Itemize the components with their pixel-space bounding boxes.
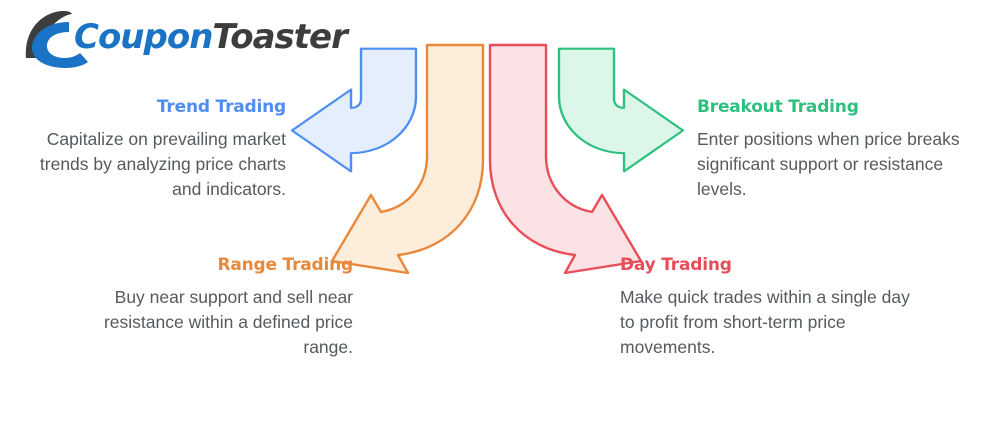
block-trend-title: Trend Trading — [8, 97, 286, 117]
block-range-description: Buy near support and sell near resistanc… — [78, 285, 353, 360]
block-breakout-title: Breakout Trading — [697, 97, 972, 117]
logo-text-coupon: Coupon — [74, 17, 212, 57]
trend-arrow-body — [348, 46, 417, 170]
trend-arrow — [354, 46, 417, 164]
block-breakout-description: Enter positions when price breaks signif… — [697, 127, 972, 202]
day-arrow-glyph — [490, 45, 641, 273]
block-breakout-trading: Breakout Trading Enter positions when pr… — [697, 97, 972, 202]
range-arrow-glyph — [332, 45, 483, 273]
block-range-title: Range Trading — [78, 255, 353, 275]
block-day-trading: Day Trading Make quick trades within a s… — [620, 255, 920, 360]
block-trend-description: Capitalize on prevailing market trends b… — [8, 127, 286, 202]
block-day-title: Day Trading — [620, 255, 920, 275]
infographic-canvas: CouponToaster Trend Trading Capitalize o… — [0, 0, 983, 423]
breakout-arrow-glyph — [559, 49, 683, 172]
brand-logo[interactable]: CouponToaster — [14, 8, 324, 70]
block-range-trading: Range Trading Buy near support and sell … — [78, 255, 353, 360]
logo-text-toaster: Toaster — [212, 17, 346, 57]
block-trend-trading: Trend Trading Capitalize on prevailing m… — [8, 97, 286, 202]
logo-wordmark: CouponToaster — [74, 14, 347, 60]
curved-arrow-left-icon — [346, 46, 418, 164]
block-day-description: Make quick trades within a single day to… — [620, 285, 920, 360]
